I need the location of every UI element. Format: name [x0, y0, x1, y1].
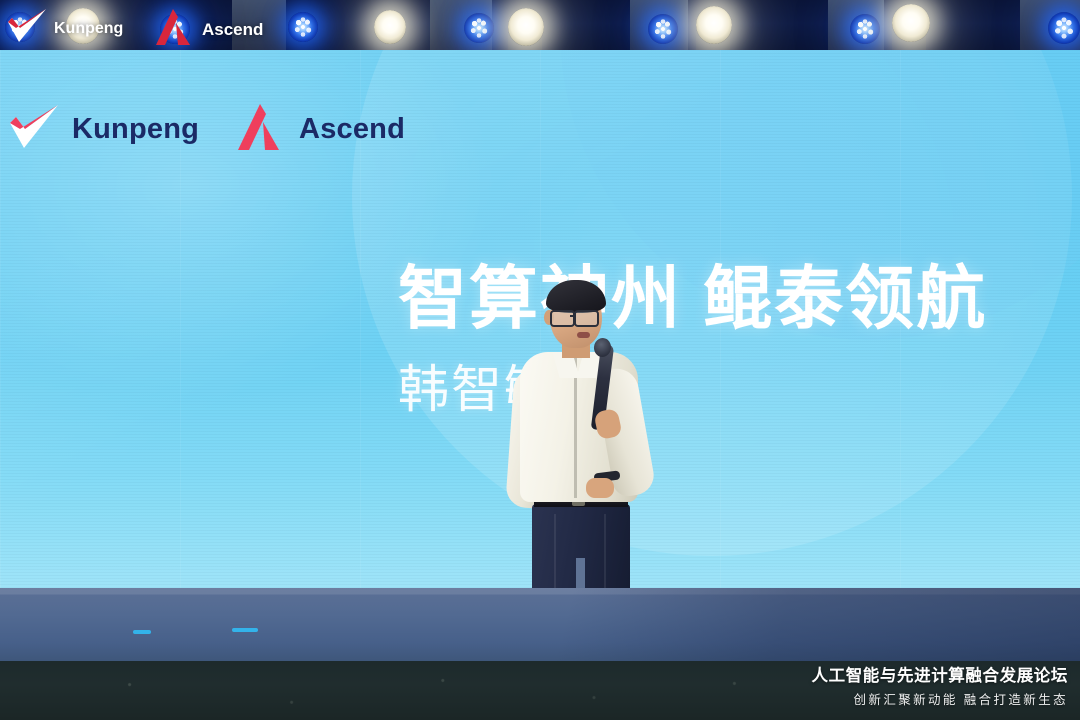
presenter-mouth: [577, 332, 590, 338]
slide-title: 智算神州 鲲泰领航: [398, 264, 987, 333]
stage-floor: [0, 588, 1080, 664]
presenter-hair: [546, 280, 606, 313]
spotlight: [892, 4, 930, 42]
forum-tagline: 创新汇聚新动能 融合打造新生态: [812, 694, 1069, 707]
led-wash-light: [850, 14, 880, 44]
ascend-icon: [152, 8, 196, 51]
wall-kunpeng-label: Kunpeng: [72, 113, 199, 146]
wall-ascend-label: Ascend: [299, 113, 405, 146]
kunpeng-icon: [6, 8, 48, 49]
led-wash-light: [288, 12, 318, 42]
eyeglasses-icon: [550, 310, 575, 327]
wall-kunpeng-logo: Kunpeng: [8, 103, 199, 156]
eyeglasses-bridge: [570, 315, 576, 317]
presenter-shirt-placket: [574, 358, 577, 498]
led-wash-light: [464, 13, 494, 43]
wall-logo-row: Kunpeng Ascend: [8, 102, 405, 157]
wall-ascend-logo: Ascend: [233, 102, 405, 157]
spotlight: [696, 6, 732, 44]
stage-photo: Kunpeng Ascend: [0, 0, 1080, 720]
overhead-lighting-truss: Kunpeng Ascend: [0, 0, 1080, 52]
ascend-icon: [233, 102, 287, 157]
truss-ascend-logo: Ascend: [152, 8, 263, 51]
presenter-left-hand: [586, 478, 614, 498]
truss-kunpeng-logo: Kunpeng: [6, 8, 123, 49]
eyeglasses-icon: [574, 310, 599, 327]
truss-ascend-label: Ascend: [202, 20, 263, 40]
forum-title: 人工智能与先进计算融合发展论坛: [812, 668, 1069, 685]
led-wash-light: [1048, 12, 1080, 44]
truss-kunpeng-label: Kunpeng: [54, 20, 123, 38]
led-wash-light: [648, 14, 678, 44]
spotlight: [508, 8, 544, 46]
spotlight: [374, 10, 406, 44]
forum-branding: 人工智能与先进计算融合发展论坛 创新汇聚新动能 融合打造新生态: [812, 668, 1069, 706]
kunpeng-icon: [8, 103, 60, 156]
